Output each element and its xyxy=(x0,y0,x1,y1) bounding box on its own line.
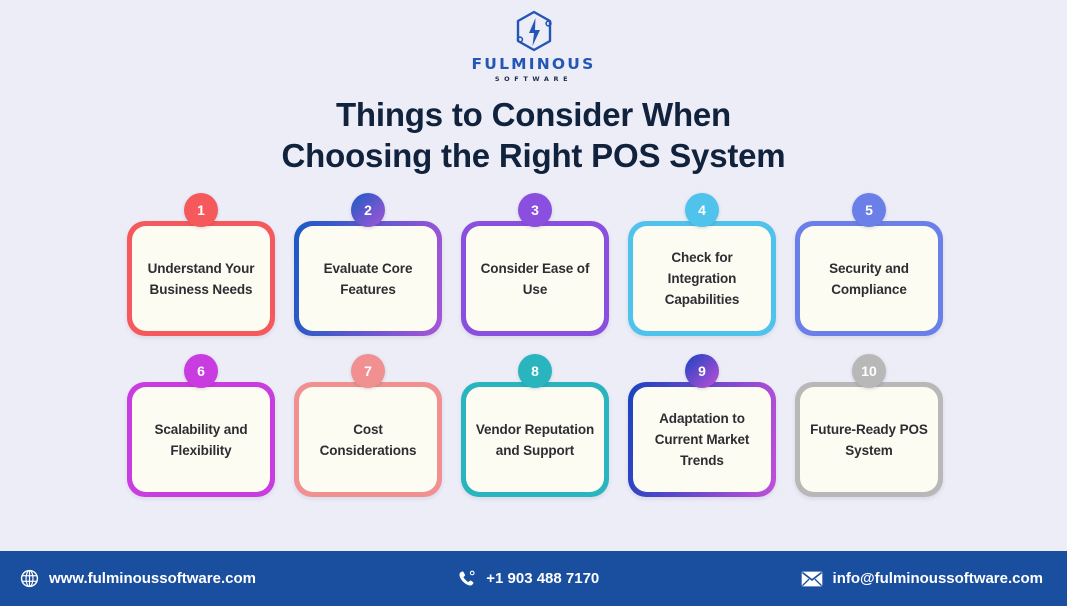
card-frame: Adaptation to Current Market Trends xyxy=(628,382,776,497)
card-label: Cost Considerations xyxy=(307,419,429,461)
card-body: Scalability and Flexibility xyxy=(132,387,270,492)
card-frame: Consider Ease of Use xyxy=(461,221,609,336)
card-item[interactable]: 8 Vendor Reputation and Support xyxy=(461,368,609,497)
card-label: Understand Your Business Needs xyxy=(140,258,262,300)
brand-name: FULMINOUS xyxy=(472,57,596,73)
footer-phone-text: +1 903 488 7170 xyxy=(486,570,599,587)
card-body: Check for Integration Capabilities xyxy=(633,226,771,331)
card-label: Security and Compliance xyxy=(808,258,930,300)
card-frame: Scalability and Flexibility xyxy=(127,382,275,497)
card-body: Future-Ready POS System xyxy=(800,387,938,492)
footer-phone[interactable]: +1 903 488 7170 xyxy=(457,569,599,588)
card-frame: Security and Compliance xyxy=(795,221,943,336)
card-label: Scalability and Flexibility xyxy=(140,419,262,461)
footer-email[interactable]: info@fulminoussoftware.com xyxy=(801,570,1043,588)
card-number-badge: 2 xyxy=(351,193,385,227)
card-body: Evaluate Core Features xyxy=(299,226,437,331)
card-body: Consider Ease of Use xyxy=(466,226,604,331)
card-number-badge: 5 xyxy=(852,193,886,227)
card-label: Future-Ready POS System xyxy=(808,419,930,461)
footer-website-text: www.fulminoussoftware.com xyxy=(49,570,256,587)
card-number-badge: 8 xyxy=(518,354,552,388)
hexagon-lightning-logo-icon xyxy=(510,8,558,56)
card-item[interactable]: 5 Security and Compliance xyxy=(795,207,943,336)
footer-email-text: info@fulminoussoftware.com xyxy=(833,570,1043,587)
brand-tagline: SOFTWARE xyxy=(495,76,572,83)
page-title: Things to Consider When Choosing the Rig… xyxy=(0,94,1067,176)
card-label: Consider Ease of Use xyxy=(474,258,596,300)
card-label: Check for Integration Capabilities xyxy=(641,247,763,310)
card-item[interactable]: 1 Understand Your Business Needs xyxy=(127,207,275,336)
phone-icon xyxy=(457,569,476,588)
contact-footer: www.fulminoussoftware.com +1 903 488 717… xyxy=(0,551,1067,606)
card-item[interactable]: 3 Consider Ease of Use xyxy=(461,207,609,336)
card-item[interactable]: 10 Future-Ready POS System xyxy=(795,368,943,497)
card-number-badge: 6 xyxy=(184,354,218,388)
card-item[interactable]: 6 Scalability and Flexibility xyxy=(127,368,275,497)
card-frame: Check for Integration Capabilities xyxy=(628,221,776,336)
title-line-2: Choosing the Right POS System xyxy=(0,135,1067,176)
card-body: Understand Your Business Needs xyxy=(132,226,270,331)
card-body: Security and Compliance xyxy=(800,226,938,331)
footer-website[interactable]: www.fulminoussoftware.com xyxy=(20,569,256,588)
card-number-badge: 10 xyxy=(852,354,886,388)
envelope-icon xyxy=(801,570,823,588)
card-number-badge: 4 xyxy=(685,193,719,227)
card-body: Adaptation to Current Market Trends xyxy=(633,387,771,492)
card-item[interactable]: 7 Cost Considerations xyxy=(294,368,442,497)
card-frame: Understand Your Business Needs xyxy=(127,221,275,336)
infographic-poster: FULMINOUS SOFTWARE Things to Consider Wh… xyxy=(0,0,1067,606)
card-number-badge: 1 xyxy=(184,193,218,227)
card-item[interactable]: 2 Evaluate Core Features xyxy=(294,207,442,336)
card-label: Evaluate Core Features xyxy=(307,258,429,300)
card-item[interactable]: 9 Adaptation to Current Market Trends xyxy=(628,368,776,497)
card-frame: Vendor Reputation and Support xyxy=(461,382,609,497)
card-number-badge: 3 xyxy=(518,193,552,227)
title-line-1: Things to Consider When xyxy=(0,94,1067,135)
card-number-badge: 9 xyxy=(685,354,719,388)
card-body: Vendor Reputation and Support xyxy=(466,387,604,492)
card-row-bottom: 6 Scalability and Flexibility 7 Cost Con… xyxy=(127,368,941,497)
card-frame: Future-Ready POS System xyxy=(795,382,943,497)
card-label: Adaptation to Current Market Trends xyxy=(641,408,763,471)
card-body: Cost Considerations xyxy=(299,387,437,492)
card-number-badge: 7 xyxy=(351,354,385,388)
globe-icon xyxy=(20,569,39,588)
card-item[interactable]: 4 Check for Integration Capabilities xyxy=(628,207,776,336)
card-label: Vendor Reputation and Support xyxy=(474,419,596,461)
card-row-top: 1 Understand Your Business Needs 2 Evalu… xyxy=(127,207,941,336)
brand-logo: FULMINOUS SOFTWARE xyxy=(0,8,1067,82)
card-frame: Cost Considerations xyxy=(294,382,442,497)
consideration-card-grid: 1 Understand Your Business Needs 2 Evalu… xyxy=(127,207,941,497)
card-frame: Evaluate Core Features xyxy=(294,221,442,336)
